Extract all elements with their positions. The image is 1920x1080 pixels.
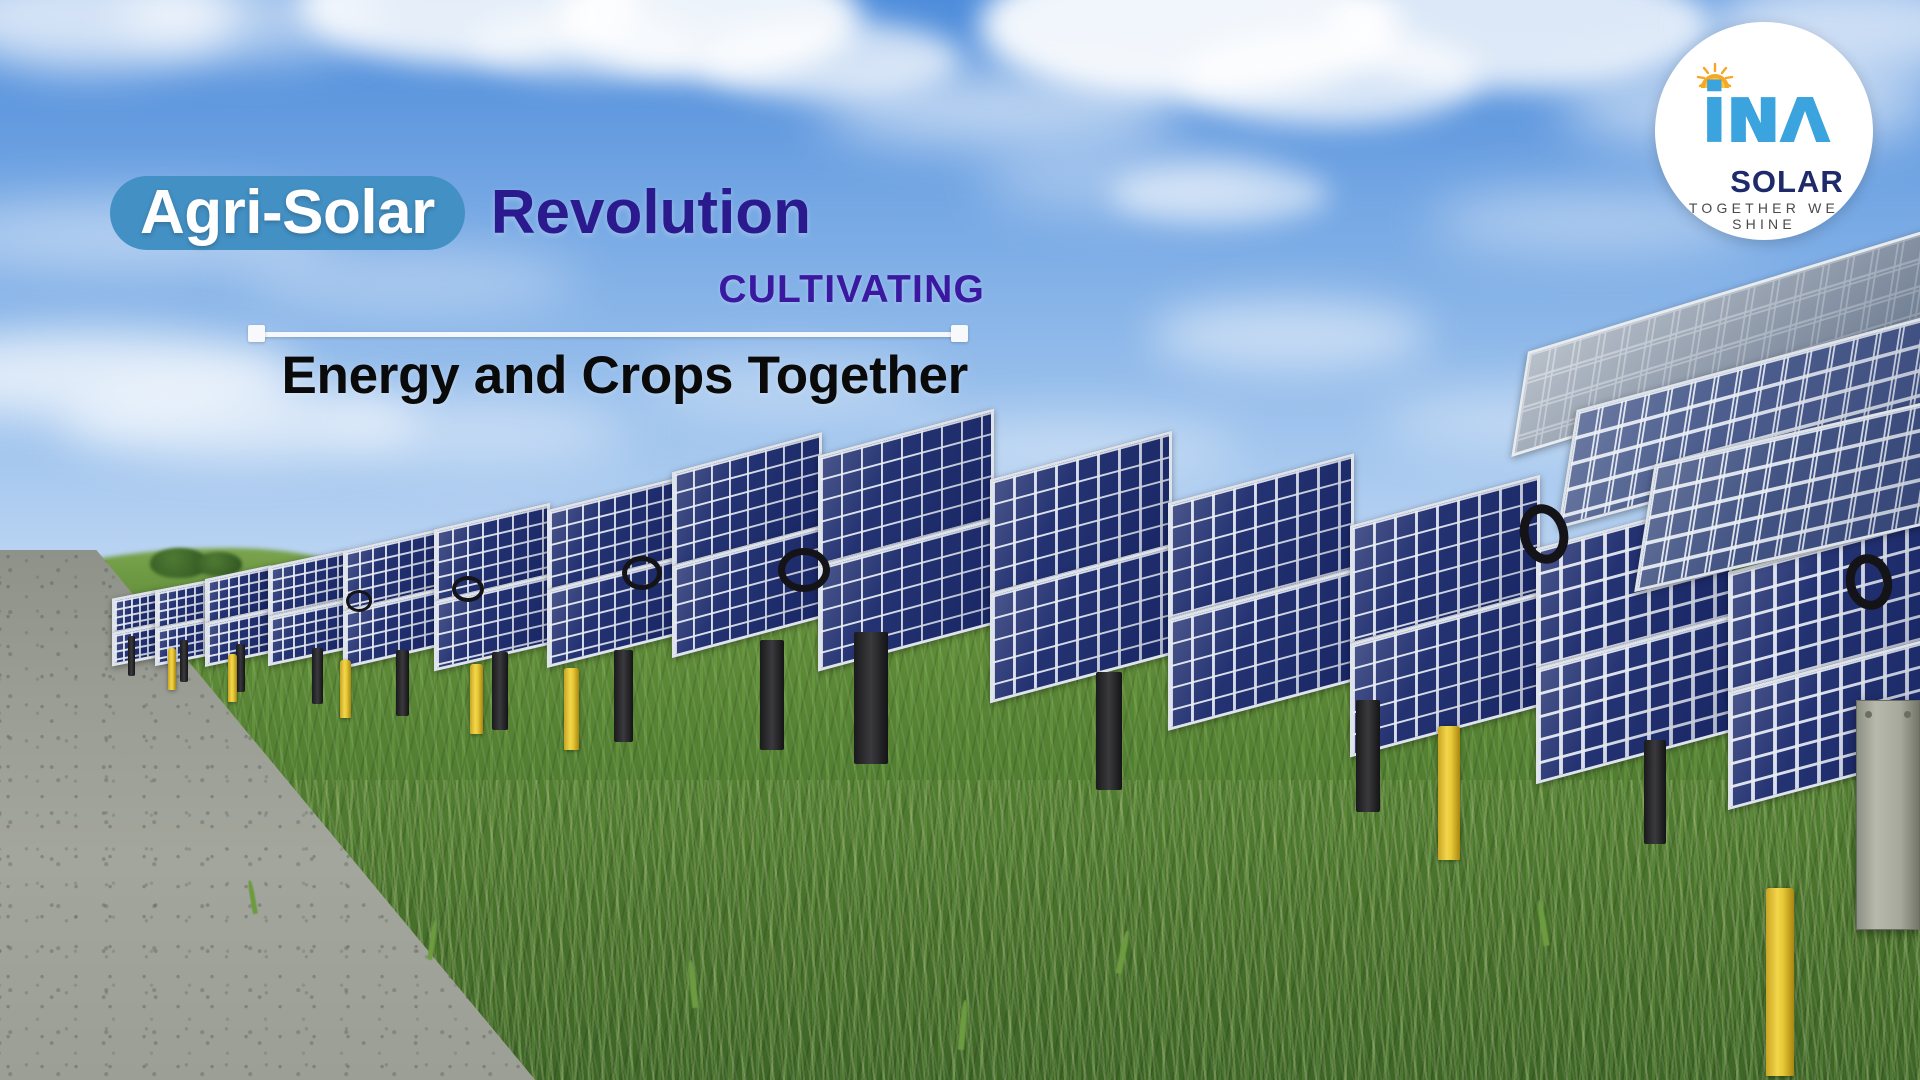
logo-brand: SOLAR xyxy=(1655,164,1873,200)
mounting-pole xyxy=(180,640,188,682)
mounting-pole xyxy=(614,650,633,742)
mounting-pole xyxy=(1096,672,1122,790)
mounting-pole xyxy=(854,632,888,764)
mounting-pole xyxy=(1644,740,1666,844)
mounting-pole xyxy=(1356,700,1380,812)
cable-loop xyxy=(452,576,484,602)
mounting-pole xyxy=(396,650,409,716)
headline-row: Agri-Solar Revolution xyxy=(0,168,1100,258)
logo-wordmark: iɴʌ xyxy=(1655,74,1873,156)
yellow-marker-post xyxy=(1438,726,1460,860)
yellow-marker-post xyxy=(228,654,237,702)
divider-cap-left xyxy=(248,325,265,342)
cable-loop xyxy=(346,590,372,612)
logo-tagline: TOGETHER WE SHINE xyxy=(1655,200,1873,232)
cable-loop xyxy=(778,548,830,592)
yellow-marker-post xyxy=(470,664,483,734)
headline-kicker: CULTIVATING xyxy=(0,268,985,312)
banner-subtitle: Energy and Crops Together xyxy=(0,345,968,406)
yellow-marker-post xyxy=(168,648,176,690)
yellow-marker-post xyxy=(564,668,579,750)
divider-cap-right xyxy=(951,325,968,342)
logo[interactable]: iɴʌ SOLAR TOGETHER WE SHINE xyxy=(1655,22,1873,240)
mounting-pole xyxy=(312,648,323,704)
equipment-cabinet xyxy=(1856,700,1920,930)
divider-bar xyxy=(256,332,960,337)
mounting-pole xyxy=(760,640,784,750)
mounting-pole xyxy=(492,652,508,730)
yellow-marker-post xyxy=(340,660,351,718)
mounting-pole xyxy=(128,636,135,676)
headline-highlight: Agri-Solar xyxy=(110,176,465,250)
yellow-marker-post xyxy=(1766,888,1794,1076)
headline-rest: Revolution xyxy=(491,182,811,244)
agri-solar-banner: Agri-Solar Revolution CULTIVATING Energy… xyxy=(0,0,1920,1080)
divider xyxy=(248,329,968,338)
cable-loop xyxy=(622,556,662,590)
mounting-pole xyxy=(236,644,245,692)
